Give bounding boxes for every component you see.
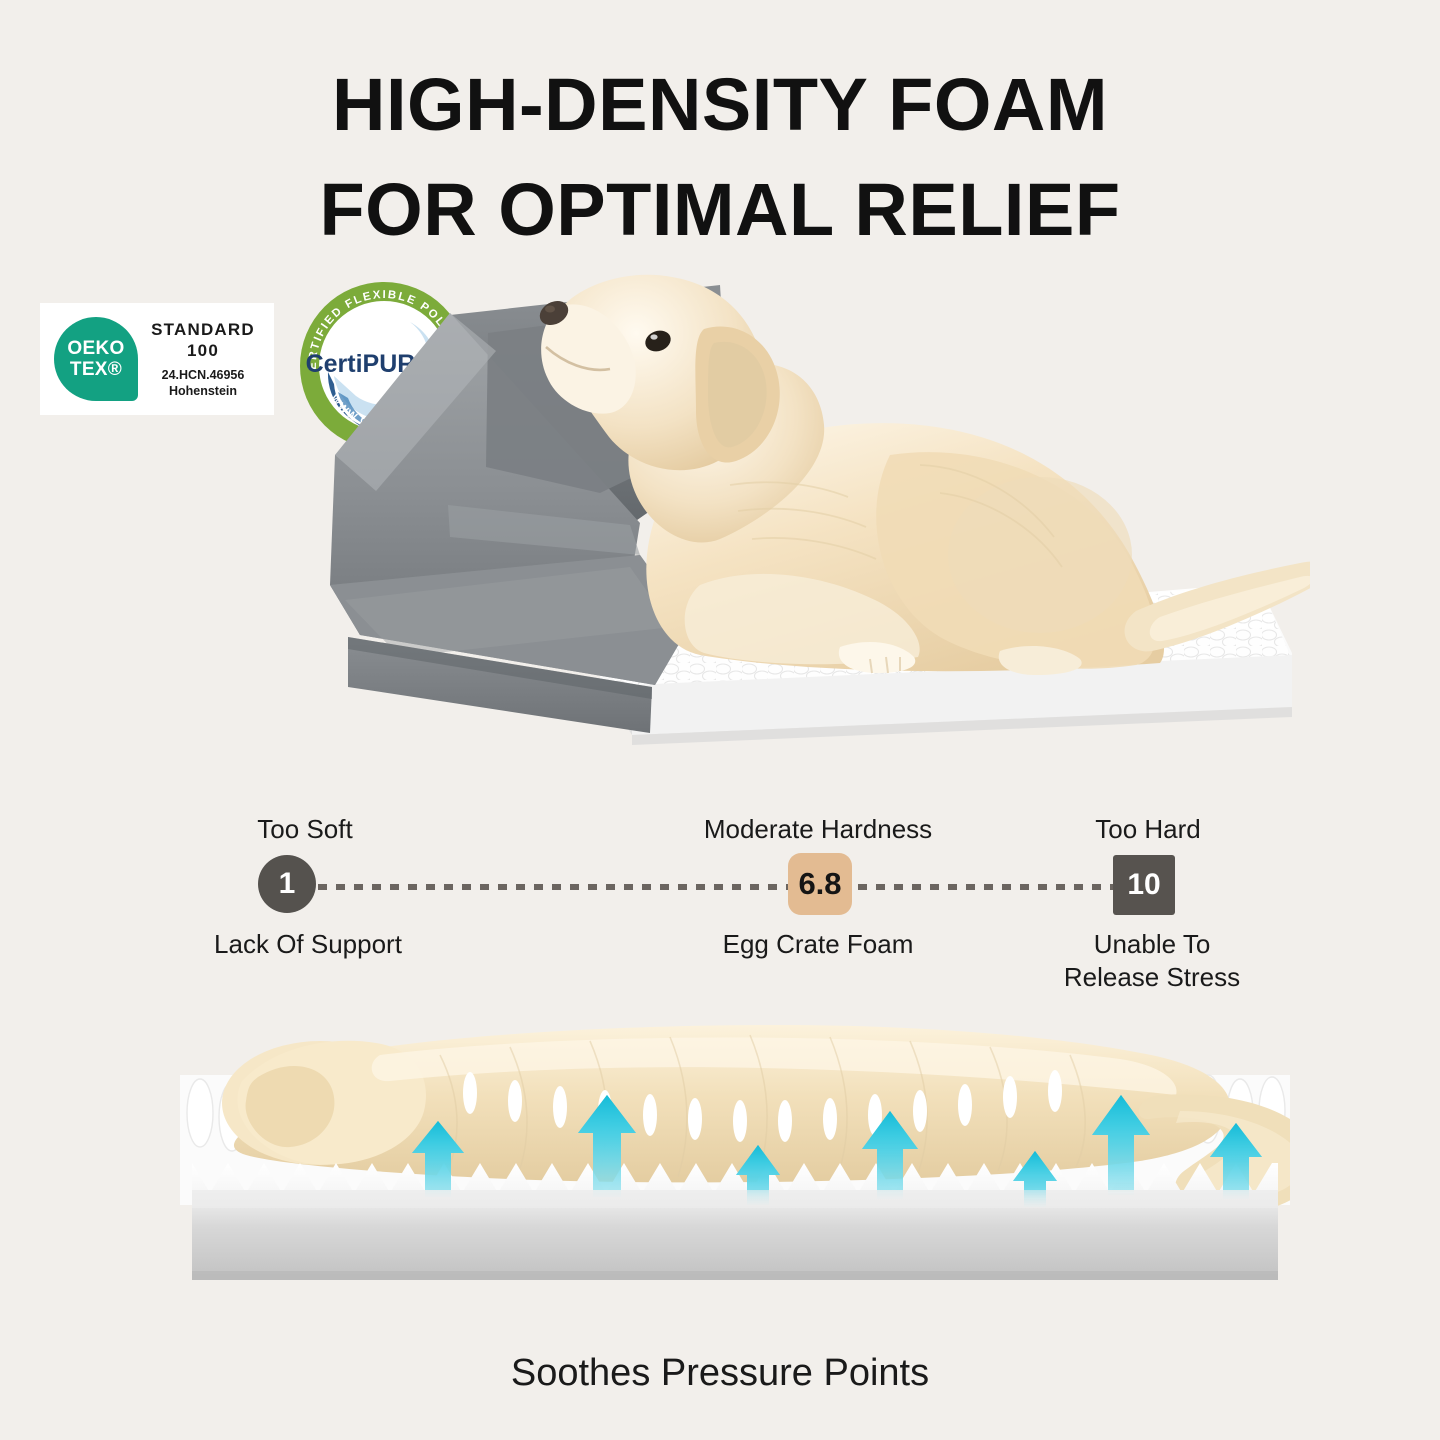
bottom-caption: Soothes Pressure Points — [0, 1352, 1440, 1395]
foam-base-slab — [192, 1190, 1278, 1280]
scale-top-label-too-hard: Too Hard — [1008, 814, 1288, 845]
hero-product-image — [300, 255, 1310, 785]
infographic-page: HIGH-DENSITY FOAM FOR OPTIMAL RELIEF OEK… — [0, 0, 1440, 1440]
unable-to-line-1: Unable To — [1094, 929, 1211, 959]
scale-top-label-moderate-hardness: Moderate Hardness — [678, 814, 958, 845]
oeko-standard-number: 100 — [138, 341, 268, 361]
oeko-standard-label: STANDARD — [138, 320, 268, 340]
oeko-tex-logo-icon: OEKO TEX® — [54, 317, 138, 401]
scale-top-label-too-soft: Too Soft — [165, 814, 445, 845]
oeko-tex-text-block: STANDARD 100 24.HCN.46956 Hohenstein — [138, 320, 274, 398]
scale-dashed-track — [300, 884, 1160, 890]
scale-marker-1: 1 — [258, 855, 316, 913]
scale-marker-10: 10 — [1113, 855, 1175, 915]
hardness-scale: Too Soft Moderate Hardness Too Hard Lack… — [0, 800, 1440, 1000]
headline-line-2: FOR OPTIMAL RELIEF — [0, 157, 1440, 262]
pressure-points-image — [180, 985, 1290, 1315]
oeko-cert-number: 24.HCN.46956 — [138, 368, 268, 382]
headline-line-1: HIGH-DENSITY FOAM — [0, 52, 1440, 157]
oeko-mark-line-1: OEKO — [67, 339, 124, 358]
page-title: HIGH-DENSITY FOAM FOR OPTIMAL RELIEF — [0, 52, 1440, 262]
oeko-tex-badge: OEKO TEX® STANDARD 100 24.HCN.46956 Hohe… — [40, 303, 274, 415]
oeko-institute: Hohenstein — [138, 384, 268, 398]
oeko-mark-line-2: TEX® — [70, 360, 122, 379]
scale-bottom-label-lack-of-support: Lack Of Support — [168, 928, 448, 961]
scale-bottom-label-egg-crate-foam: Egg Crate Foam — [678, 928, 958, 961]
scale-marker-6-8: 6.8 — [788, 853, 852, 915]
